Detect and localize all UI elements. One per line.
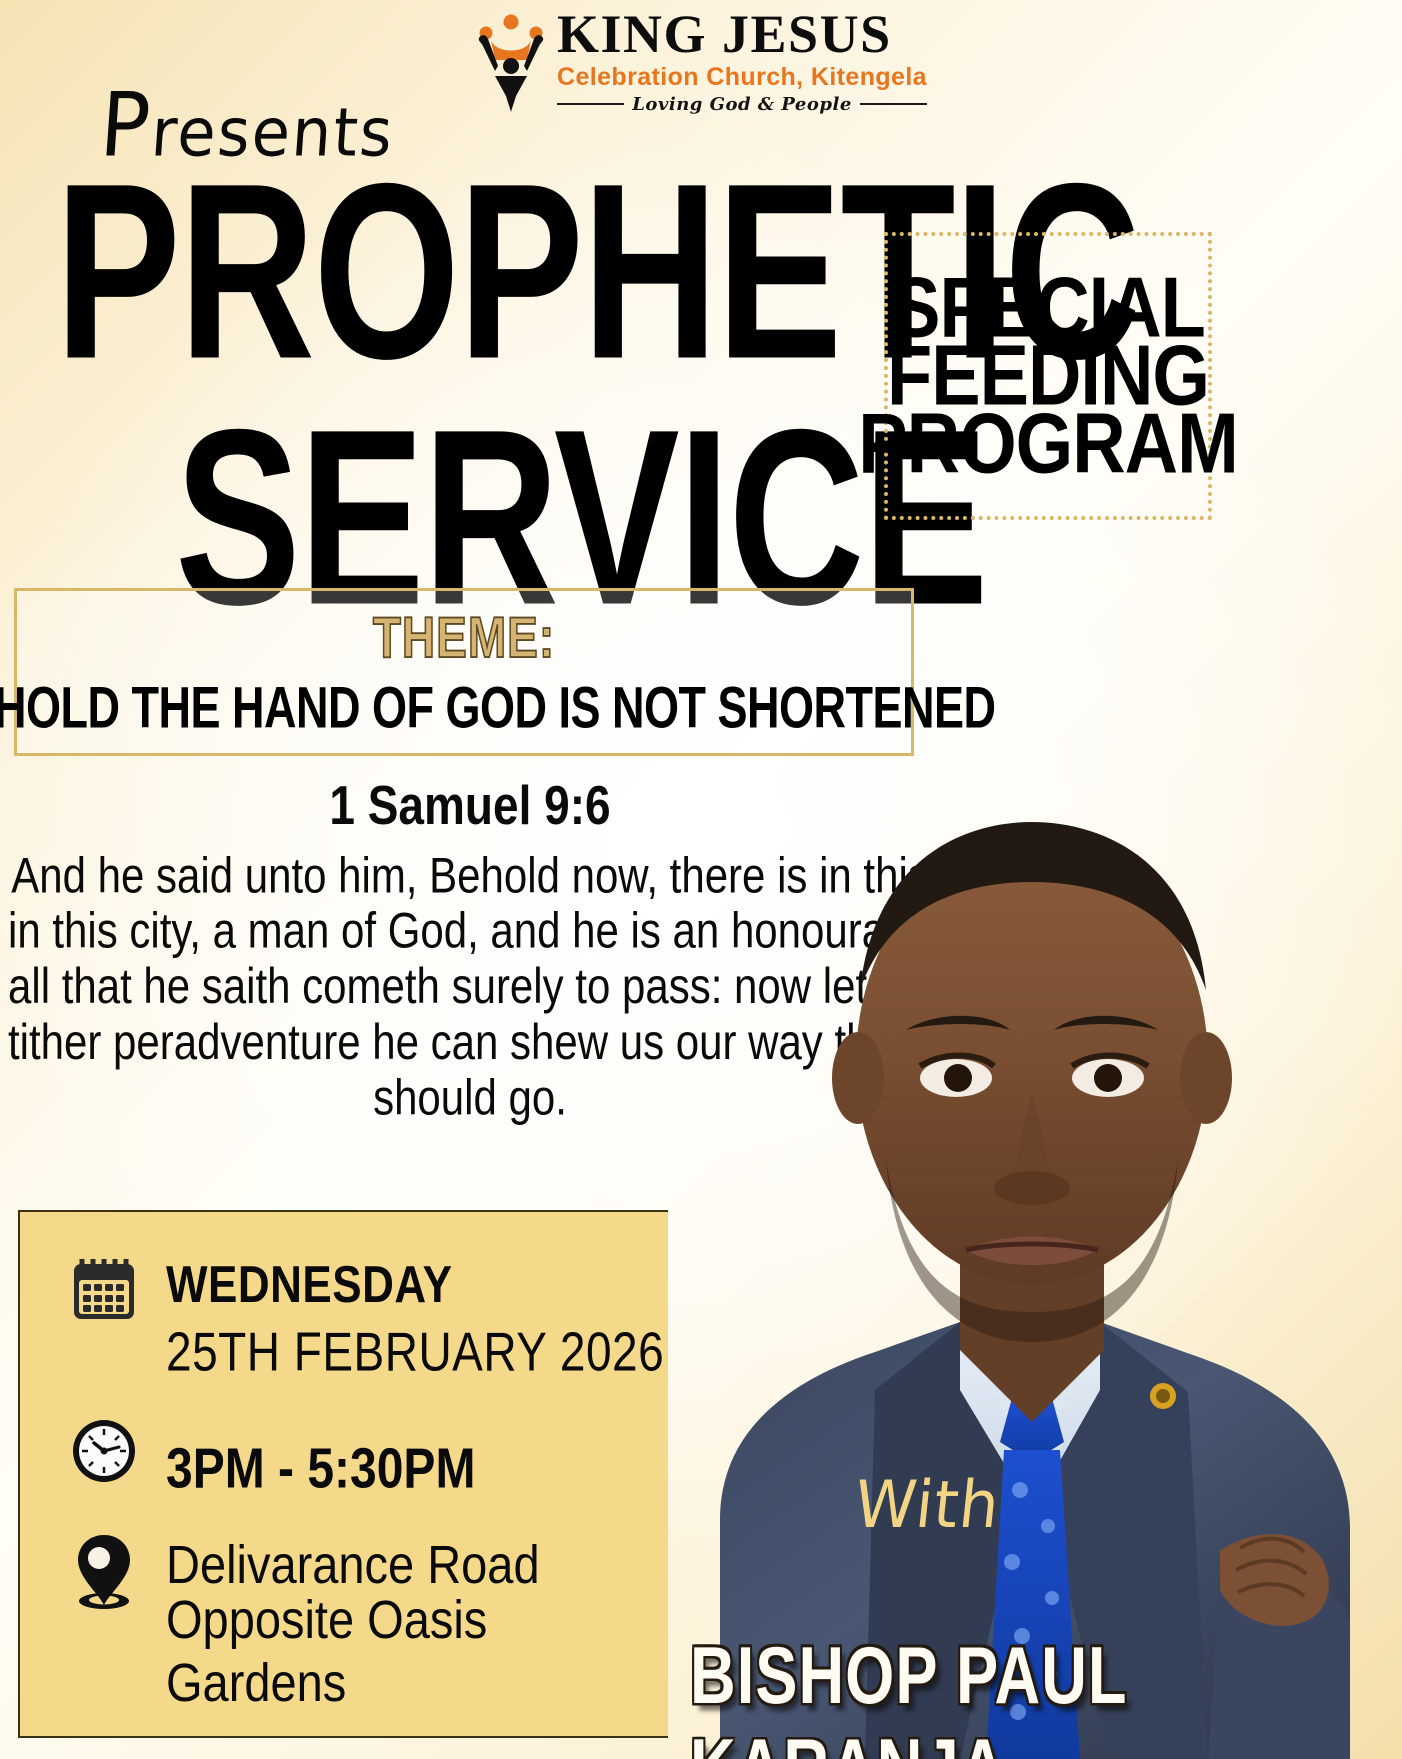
king-jesus-person-crown-logo: [475, 8, 547, 112]
event-poster: KING JESUS Celebration Church, Kitengela…: [0, 0, 1402, 1759]
logo-wordmark: KING JESUS Celebration Church, Kitengela…: [557, 6, 927, 115]
event-time: 3PM - 5:30PM: [166, 1418, 475, 1502]
scripture-reference: 1 Samuel 9:6: [329, 773, 610, 837]
date-text-group: WEDNESDAY 25TH FEBRUARY 2026: [166, 1254, 664, 1374]
detail-row-time: 3PM - 5:30PM: [66, 1416, 668, 1489]
detail-row-date: WEDNESDAY 25TH FEBRUARY 2026: [66, 1254, 668, 1374]
venue-text-group: Delivarance Road Opposite Oasis Gardens: [166, 1531, 668, 1699]
logo-tagline-row: Loving God & People: [557, 94, 927, 115]
theme-label: THEME:: [373, 603, 555, 671]
venue-line-1: Delivarance Road: [166, 1533, 668, 1596]
feeding-line-3: PROGRAM: [858, 405, 1237, 483]
event-details-panel: WEDNESDAY 25TH FEBRUARY 2026: [18, 1210, 668, 1738]
logo-tagline: Loving God & People: [632, 94, 852, 115]
detail-row-venue: Delivarance Road Opposite Oasis Gardens: [66, 1531, 668, 1699]
logo-title: KING JESUS: [557, 8, 927, 61]
logo-subtitle: Celebration Church, Kitengela: [557, 62, 927, 92]
logo-rule-right: [860, 103, 927, 105]
time-text-group: 3PM - 5:30PM: [166, 1416, 475, 1489]
event-date: 25TH FEBRUARY 2026: [166, 1320, 664, 1384]
clock-icon: [66, 1416, 142, 1486]
speaker-name: BISHOP PAUL KARANJA: [690, 1630, 1402, 1759]
event-day: WEDNESDAY: [166, 1256, 664, 1315]
venue-line-2: Opposite Oasis Gardens: [166, 1588, 668, 1714]
location-pin-icon: [66, 1531, 142, 1611]
bishop-portrait: [660, 690, 1402, 1759]
logo-rule-left: [557, 103, 624, 105]
calendar-icon: [66, 1254, 142, 1324]
with-label: With: [851, 1466, 1004, 1543]
special-feeding-program-badge: SPECIAL FEEDING PROGRAM: [884, 232, 1212, 520]
